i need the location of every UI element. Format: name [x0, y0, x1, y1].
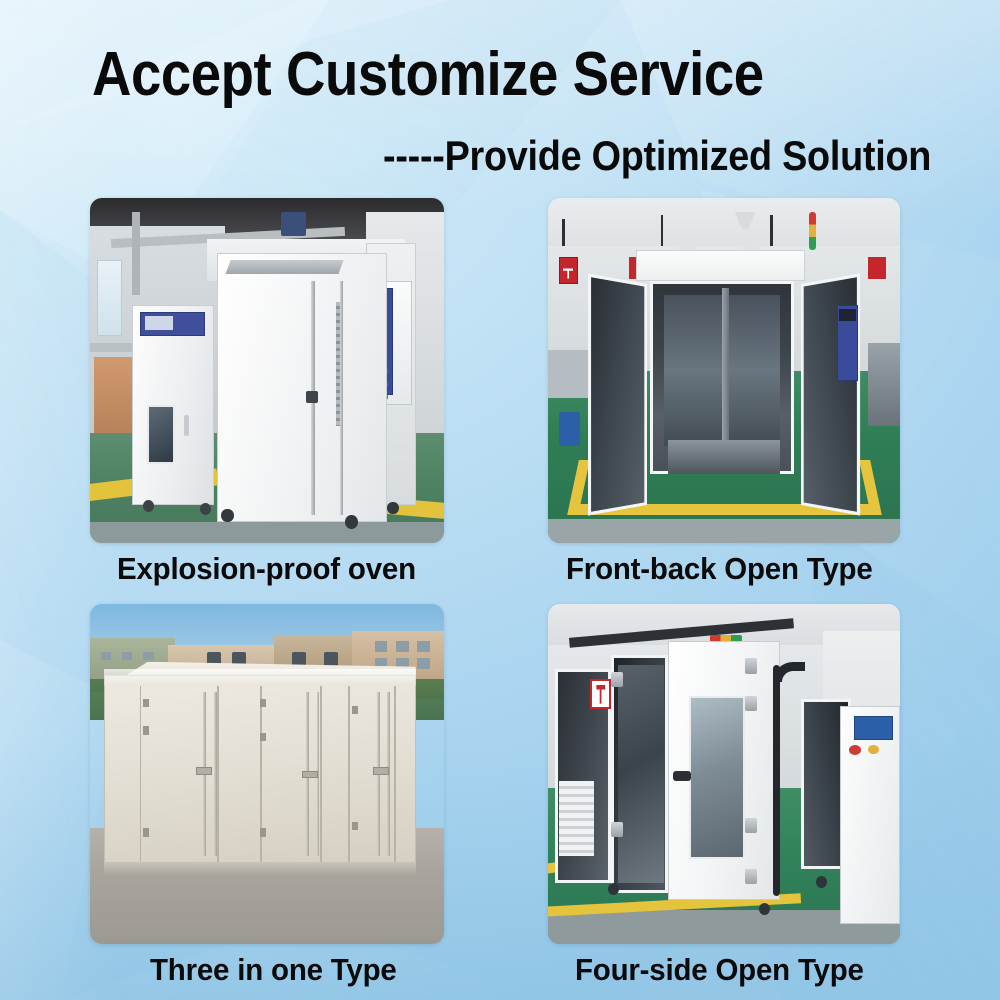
gallery-item-front-back-open-type[interactable] [548, 198, 900, 543]
caption-explosion-proof-oven: Explosion-proof oven [117, 551, 416, 587]
caption-four-side-open-type: Four-side Open Type [575, 952, 864, 988]
photo-explosion-proof-oven [90, 198, 444, 543]
photo-front-back-open-type [548, 198, 900, 543]
photo-four-side-open-type [548, 604, 900, 944]
safety-sign-icon [559, 257, 578, 285]
status-lamp-icon [809, 212, 815, 250]
gallery-item-three-in-one-type[interactable] [90, 604, 444, 944]
gallery-item-four-side-open-type[interactable] [548, 604, 900, 944]
gallery-item-explosion-proof-oven[interactable] [90, 198, 444, 543]
photo-three-in-one-type [90, 604, 444, 944]
page-title: Accept Customize Service [92, 42, 814, 108]
safety-sign-icon [590, 679, 611, 710]
caption-three-in-one-type: Three in one Type [150, 952, 397, 988]
caption-front-back-open-type: Front-back Open Type [566, 551, 873, 587]
page-subtitle: -----Provide Optimized Solution [383, 133, 959, 179]
